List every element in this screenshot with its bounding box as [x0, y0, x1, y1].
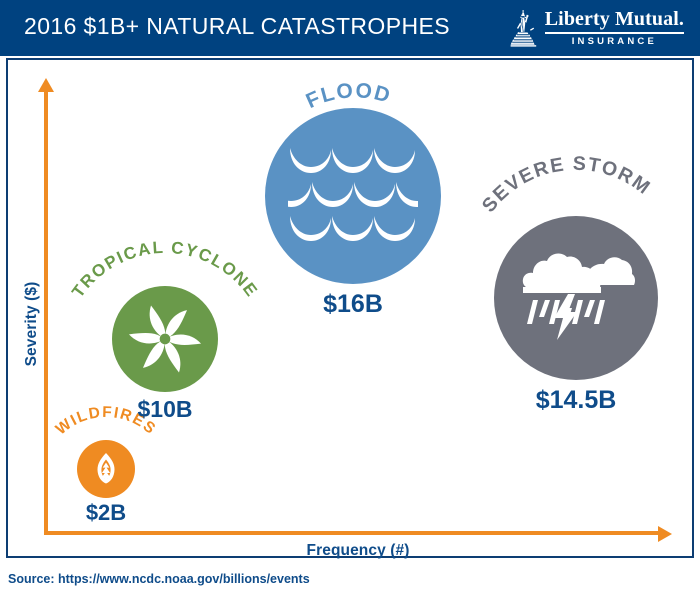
bubble-value-tropical-cyclone: $10B	[138, 396, 193, 423]
water-waves-icon	[288, 142, 418, 250]
storm-cloud-lightning-rain-icon	[516, 246, 636, 350]
logo-divider	[545, 32, 684, 34]
arc-text-severe-storm: SEVERE STORM	[478, 153, 655, 217]
logo-text-block: Liberty Mutual. INSURANCE	[545, 9, 684, 47]
bubble-tropical-cyclone[interactable]: TROPICAL CYCLONE	[112, 286, 218, 392]
x-axis-line	[44, 531, 664, 535]
y-axis-line	[44, 90, 48, 535]
bubble-flood[interactable]: FLOOD	[265, 108, 441, 284]
bubble-disc-severe-storm	[494, 216, 658, 380]
bubble-value-severe-storm: $14.5B	[536, 386, 617, 415]
y-axis-arrowhead	[38, 78, 54, 92]
logo-subtitle: INSURANCE	[545, 36, 684, 47]
x-axis-label: Frequency (#)	[238, 542, 478, 560]
hurricane-spiral-icon	[127, 301, 203, 377]
page-title: 2016 $1B+ NATURAL CATASTROPHES	[24, 13, 450, 40]
bubble-disc-tropical-cyclone	[112, 286, 218, 392]
bubble-wildfires[interactable]: WILDFIRES $2B	[77, 440, 135, 498]
header-bar: 2016 $1B+ NATURAL CATASTROPHES	[0, 0, 700, 56]
chart-panel: Severity ($) Frequency (#) WILDFIRES	[6, 58, 694, 558]
bubble-disc-wildfires	[77, 440, 135, 498]
bubble-value-flood: $16B	[323, 290, 383, 319]
svg-text:SEVERE STORM: SEVERE STORM	[478, 153, 655, 217]
x-axis-arrowhead	[658, 526, 672, 542]
bubble-disc-flood	[265, 108, 441, 284]
wildfire-flame-tree-icon	[86, 449, 126, 489]
logo-wordmark: Liberty Mutual.	[545, 9, 684, 30]
plot-area: Severity ($) Frequency (#) WILDFIRES	[8, 60, 692, 556]
source-note: Source: https://www.ncdc.noaa.gov/billio…	[8, 572, 310, 586]
statue-of-liberty-icon	[509, 9, 539, 47]
bubble-value-wildfires: $2B	[86, 500, 126, 526]
liberty-mutual-logo: Liberty Mutual. INSURANCE	[509, 8, 684, 48]
bubble-severe-storm[interactable]: SEVERE STORM	[494, 216, 658, 380]
y-axis-label: Severity ($)	[23, 264, 41, 384]
